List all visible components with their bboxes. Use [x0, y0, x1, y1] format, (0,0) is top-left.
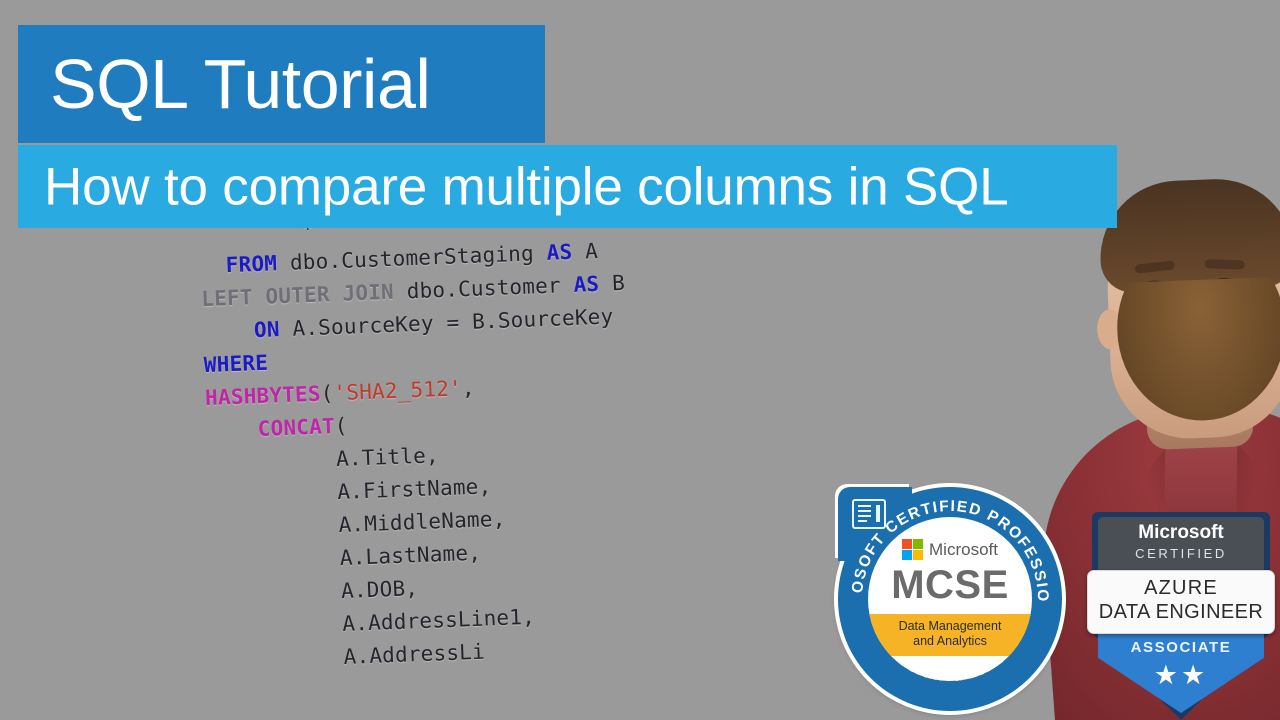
azure-data-engineer-badge: Microsoft CERTIFIED AZURE DATA ENGINEER … [1092, 512, 1270, 720]
presenter-ear-left [1096, 309, 1124, 350]
azure-brand: Microsoft [1092, 522, 1270, 544]
microsoft-wordmark: Microsoft [929, 540, 998, 560]
code-token: ( [334, 414, 348, 438]
code-token: A.FirstName, [337, 474, 492, 504]
subtitle-banner: How to compare multiple columns in SQL [18, 145, 1117, 228]
title-banner: SQL Tutorial [18, 25, 545, 143]
code-token: 'SHA2_512' [333, 376, 462, 405]
presenter-eye-right [1211, 277, 1237, 289]
presenter-neck [1144, 336, 1254, 450]
code-token: A [572, 239, 599, 264]
azure-line-1: AZURE [1088, 577, 1274, 600]
code-token: LEFT OUTER JOIN [201, 280, 394, 311]
presenter-eyebrow-left [1134, 260, 1175, 273]
page-title: SQL Tutorial [50, 49, 430, 119]
mcse-specialty-line1: Data Management [868, 619, 1032, 634]
azure-line-2: DATA ENGINEER [1088, 601, 1274, 624]
code-token: A.LastName, [339, 541, 481, 570]
presenter-nose [1180, 294, 1206, 335]
code-token: , [461, 376, 475, 400]
azure-name-plate: AZURE DATA ENGINEER [1087, 570, 1275, 634]
presenter-eyebrow-right [1205, 259, 1245, 269]
code-token: dbo.CustomerStaging [277, 241, 547, 275]
code-token: CONCAT [257, 414, 335, 441]
azure-level-label: ASSOCIATE [1092, 639, 1270, 656]
code-token: WHERE [203, 351, 268, 377]
code-token: A.MiddleName, [338, 507, 506, 537]
code-token: A.AddressLi [343, 640, 485, 669]
video-thumbnail: SELECT * FROM dbo.CustomerStaging AS ALE… [0, 0, 1280, 720]
certificate-document-icon [852, 499, 886, 529]
microsoft-logo: Microsoft [902, 539, 998, 560]
presenter-eye-left [1141, 280, 1167, 292]
code-token: AS [573, 272, 600, 297]
code-token: dbo.Customer [393, 273, 574, 304]
mcse-specialty-line2: and Analytics [868, 634, 1032, 649]
presenter-hair [1098, 176, 1280, 293]
code-token: HASHBYTES [205, 382, 321, 410]
sql-code-block: SELECT * FROM dbo.CustomerStaging AS ALE… [197, 160, 856, 679]
code-token: A.AddressLine1, [342, 605, 535, 636]
code-token: A.Title, [336, 443, 440, 471]
presenter-beard [1115, 277, 1280, 445]
code-token: B [599, 271, 626, 296]
azure-certified-label: CERTIFIED [1092, 546, 1270, 561]
azure-stars-icon: ★★ [1092, 662, 1270, 689]
code-token: AS [546, 240, 573, 265]
presenter-ear-right [1276, 302, 1280, 343]
microsoft-logo-icon [902, 539, 923, 560]
mcse-certification-badge: MICROSOFT CERTIFIED PROFESSIONAL Certifi… [838, 487, 1062, 711]
page-subtitle: How to compare multiple columns in SQL [44, 160, 1008, 213]
presenter-head [1104, 195, 1280, 442]
mcse-inner-disc: Microsoft MCSE Data Management and Analy… [868, 517, 1032, 681]
presenter-mouth [1172, 345, 1224, 357]
mcse-title: MCSE [868, 563, 1032, 608]
mcse-specialty-band: Data Management and Analytics [868, 614, 1032, 656]
code-token: FROM [225, 251, 277, 277]
code-token: A.DOB, [341, 576, 419, 603]
code-token: ON [254, 317, 281, 342]
